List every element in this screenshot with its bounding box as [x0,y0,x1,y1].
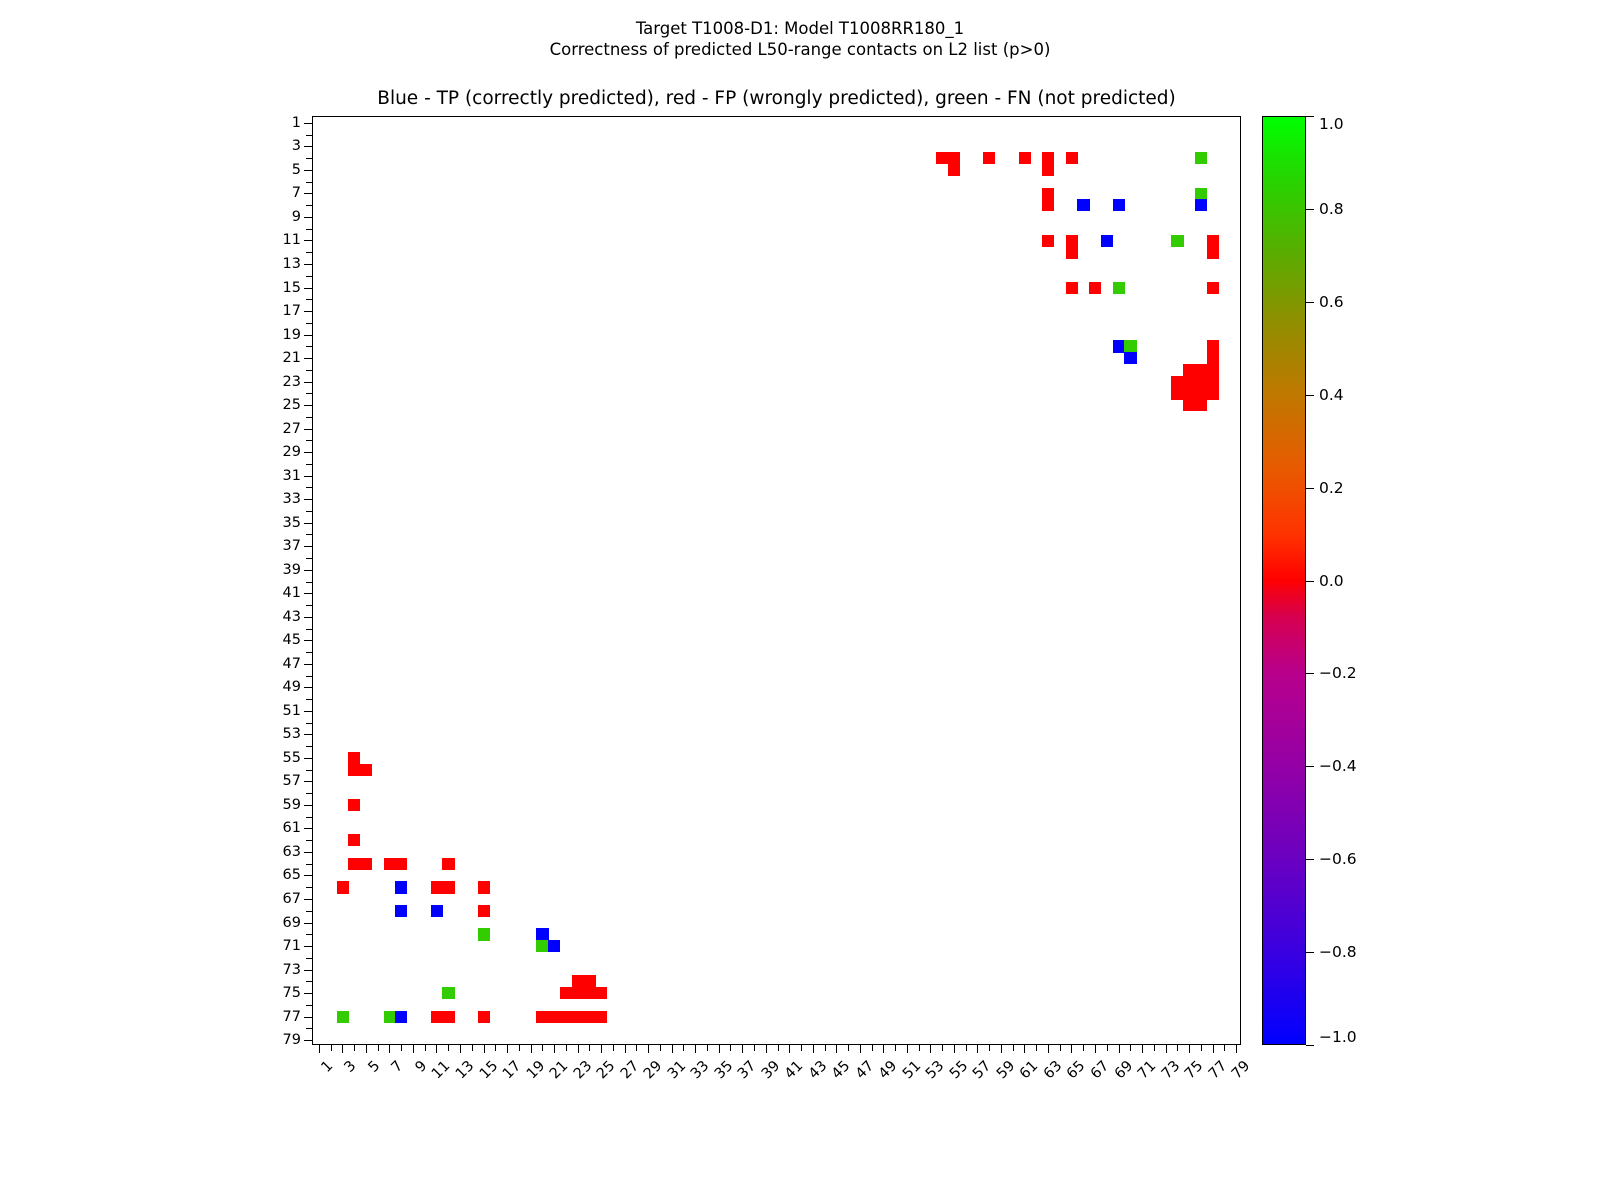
y-tick [306,699,313,700]
y-tick [304,240,313,241]
x-tick-label: 33 [688,1058,712,1082]
contact-cell-fp [936,152,948,164]
y-tick [304,970,313,971]
contact-cell-fn [1195,188,1207,200]
y-tick [306,864,313,865]
colorbar-tick [1306,302,1314,303]
y-tick-label: 57 [283,773,301,789]
x-tick [1236,1044,1237,1053]
x-tick [683,1044,684,1051]
contact-cell-fn [1171,235,1183,247]
x-tick [730,1044,731,1051]
x-tick [1107,1044,1108,1051]
colorbar-tick [1306,116,1314,117]
contact-cell-fp [348,752,360,764]
x-tick-label: 13 [453,1058,477,1082]
x-tick-label: 71 [1135,1058,1159,1082]
x-tick-label: 45 [829,1058,853,1082]
y-tick [306,276,313,277]
y-tick-label: 69 [283,915,301,931]
colorbar-tick [1306,581,1314,582]
y-tick-label: 59 [283,797,301,813]
x-tick [895,1044,896,1051]
y-tick-label: 21 [283,350,301,366]
y-tick [304,1017,313,1018]
x-tick [742,1044,743,1053]
y-tick [304,593,313,594]
y-tick [304,687,313,688]
y-tick-label: 49 [283,679,301,695]
contact-cell-fp [1195,376,1207,388]
x-tick [1142,1044,1143,1053]
y-tick [304,570,313,571]
y-tick-label: 37 [283,538,301,554]
y-tick [304,711,313,712]
y-tick [304,358,313,359]
y-tick [304,852,313,853]
x-tick [1036,1044,1037,1051]
y-tick-label: 45 [283,632,301,648]
y-tick [306,793,313,794]
x-tick [636,1044,637,1051]
contact-cell-fp [560,987,572,999]
figure-title-block: Target T1008-D1: Model T1008RR180_1 Corr… [0,18,1600,61]
x-tick [389,1044,390,1053]
x-tick-label: 49 [876,1058,900,1082]
y-tick [306,487,313,488]
y-tick [306,887,313,888]
colorbar-tick [1306,1045,1314,1046]
colorbar-tick [1306,766,1314,767]
contact-cell-fp [1171,387,1183,399]
x-tick [1001,1044,1002,1053]
colorbar-tick-label: 0.6 [1319,293,1344,311]
x-tick [319,1044,320,1053]
x-tick [331,1044,332,1051]
contact-cell-fn [1195,152,1207,164]
y-tick [304,193,313,194]
contact-cell-fp [948,152,960,164]
x-tick [860,1044,861,1053]
x-tick-label: 7 [389,1058,407,1076]
contact-cell-fp [1207,387,1219,399]
y-tick [306,652,313,653]
contact-cell-fp [1042,235,1054,247]
y-tick-label: 29 [283,444,301,460]
x-tick-label: 41 [782,1058,806,1082]
colorbar-tick-label: −1.0 [1319,1028,1357,1046]
y-tick [306,981,313,982]
colorbar-tick-label: 0.0 [1319,572,1344,590]
y-tick [306,1028,313,1029]
x-tick [825,1044,826,1051]
x-tick [848,1044,849,1051]
y-tick-label: 3 [292,138,301,154]
colorbar-tick-label: 0.4 [1319,386,1344,404]
contact-cell-tp [1113,340,1125,352]
colorbar-tick [1306,673,1314,674]
x-tick [1224,1044,1225,1051]
contact-cell-fp [478,881,490,893]
x-tick-label: 21 [547,1058,571,1082]
contact-cell-fp [1183,399,1195,411]
y-tick [304,429,313,430]
contact-cell-fn [337,1011,349,1023]
y-tick [306,582,313,583]
colorbar-tick-label: −0.8 [1319,943,1357,961]
y-tick-label: 23 [283,374,301,390]
contact-cell-fp [1066,235,1078,247]
contact-cell-fp [1183,387,1195,399]
contact-cell-fp [1089,282,1101,294]
y-tick [306,1005,313,1006]
x-tick-label: 47 [853,1058,877,1082]
x-tick [342,1044,343,1053]
x-tick-label: 57 [970,1058,994,1082]
y-tick-label: 51 [283,703,301,719]
contact-cell-fp [572,1011,584,1023]
contact-cell-fp [442,881,454,893]
contact-cell-fp [1207,364,1219,376]
y-tick [304,899,313,900]
contact-map-plot-area[interactable]: 1357911131517192123252729313335373941434… [312,116,1241,1045]
x-tick [1013,1044,1014,1051]
y-tick-label: 75 [283,985,301,1001]
colorbar-tick-label: 0.2 [1319,479,1344,497]
contact-cell-tp [395,881,407,893]
x-tick-label: 67 [1088,1058,1112,1082]
y-tick-label: 7 [292,185,301,201]
x-tick [1024,1044,1025,1053]
y-tick [304,805,313,806]
y-tick [304,617,313,618]
x-tick [1071,1044,1072,1053]
y-tick [306,770,313,771]
x-tick-label: 73 [1159,1058,1183,1082]
y-tick [306,511,313,512]
y-tick-label: 67 [283,891,301,907]
y-tick [306,182,313,183]
contact-cell-fp [595,1011,607,1023]
contact-cell-tp [1124,352,1136,364]
x-tick-label: 23 [571,1058,595,1082]
x-tick-label: 19 [523,1058,547,1082]
contact-cell-fp [1195,399,1207,411]
contact-cell-tp [1101,235,1113,247]
y-tick [306,605,313,606]
y-tick [304,405,313,406]
x-tick [778,1044,779,1051]
x-tick [1083,1044,1084,1051]
colorbar-tick-label: −0.6 [1319,850,1357,868]
contact-cell-fp [595,987,607,999]
x-tick [1048,1044,1049,1053]
y-tick [304,523,313,524]
contact-cell-fn [384,1011,396,1023]
y-tick-label: 31 [283,468,301,484]
x-tick [754,1044,755,1051]
y-tick-label: 33 [283,491,301,507]
x-tick-label: 15 [476,1058,500,1082]
contact-cell-fp [348,834,360,846]
contact-cell-fp [560,1011,572,1023]
x-tick [930,1044,931,1053]
contact-cell-fp [948,164,960,176]
x-tick-label: 69 [1111,1058,1135,1082]
y-tick [306,464,313,465]
y-tick-label: 11 [283,232,301,248]
y-tick [304,640,313,641]
y-tick-label: 65 [283,867,301,883]
contact-cell-fp [1207,235,1219,247]
x-tick [589,1044,590,1051]
y-tick [306,934,313,935]
x-tick [507,1044,508,1053]
y-tick [306,299,313,300]
contact-cell-fp [348,799,360,811]
x-tick [966,1044,967,1051]
y-tick [306,229,313,230]
x-tick-label: 17 [500,1058,524,1082]
contact-cell-fp [348,858,360,870]
x-tick [436,1044,437,1053]
x-tick [1166,1044,1167,1053]
y-tick-label: 17 [283,303,301,319]
y-tick-label: 61 [283,820,301,836]
contact-cell-fp [478,1011,490,1023]
x-tick [460,1044,461,1053]
x-tick [531,1044,532,1053]
colorbar-tick [1306,859,1314,860]
y-tick [306,393,313,394]
x-tick-label: 59 [994,1058,1018,1082]
y-tick [304,734,313,735]
x-tick [1130,1044,1131,1051]
x-tick-label: 9 [412,1058,430,1076]
x-tick-label: 31 [665,1058,689,1082]
x-tick [472,1044,473,1051]
y-tick-label: 35 [283,515,301,531]
x-tick [883,1044,884,1053]
contact-cell-fp [360,764,372,776]
y-tick [304,664,313,665]
x-tick [425,1044,426,1051]
x-tick [1213,1044,1214,1053]
contact-cell-fp [395,858,407,870]
y-tick [306,440,313,441]
y-tick [306,911,313,912]
x-tick [1095,1044,1096,1053]
y-tick [306,135,313,136]
figure-title-line-2: Correctness of predicted L50-range conta… [0,39,1600,60]
y-tick [304,875,313,876]
y-tick-label: 53 [283,726,301,742]
y-tick-label: 41 [283,585,301,601]
y-tick-label: 27 [283,421,301,437]
y-tick [304,1040,313,1041]
contact-cell-fp [1195,387,1207,399]
y-tick [304,288,313,289]
x-tick-label: 63 [1041,1058,1065,1082]
y-tick [306,346,313,347]
contact-cell-fp [1042,152,1054,164]
contact-cell-fp [1042,199,1054,211]
contact-cell-fp [337,881,349,893]
x-tick [366,1044,367,1053]
x-tick [378,1044,379,1051]
x-tick [672,1044,673,1053]
x-tick-label: 1 [318,1058,336,1076]
x-tick-label: 39 [759,1058,783,1082]
contact-cell-tp [1195,199,1207,211]
y-tick [306,323,313,324]
x-tick [707,1044,708,1051]
contact-cell-fp [1207,282,1219,294]
x-tick [495,1044,496,1051]
colorbar-tick [1306,488,1314,489]
contact-cell-tp [1077,199,1089,211]
x-tick [977,1044,978,1053]
y-tick [306,252,313,253]
y-tick [306,205,313,206]
contact-cell-fp [431,881,443,893]
x-tick [1119,1044,1120,1053]
y-tick [304,993,313,994]
x-tick [613,1044,614,1051]
colorbar-tick-label: 0.8 [1319,200,1344,218]
colorbar-gradient [1262,116,1306,1045]
y-tick [304,217,313,218]
x-tick-label: 35 [712,1058,736,1082]
x-tick-label: 65 [1064,1058,1088,1082]
x-tick [719,1044,720,1053]
y-tick [304,452,313,453]
x-tick [660,1044,661,1051]
x-tick-label: 29 [641,1058,665,1082]
y-tick [304,476,313,477]
x-tick [1201,1044,1202,1051]
y-tick [304,923,313,924]
contact-cell-fp [1183,364,1195,376]
colorbar: 1.00.80.60.40.20.0−0.2−0.4−0.6−0.8−1.0 [1262,116,1306,1045]
y-tick-label: 9 [292,209,301,225]
y-tick-label: 79 [283,1032,301,1048]
contact-cell-tp [1113,199,1125,211]
y-tick-label: 63 [283,844,301,860]
x-tick [1060,1044,1061,1051]
x-tick-label: 37 [735,1058,759,1082]
x-tick [484,1044,485,1053]
colorbar-tick [1306,952,1314,953]
contact-cell-fn [536,940,548,952]
x-tick [907,1044,908,1053]
y-tick [304,311,313,312]
y-tick [306,723,313,724]
contact-cell-fp [536,1011,548,1023]
y-tick [306,158,313,159]
y-tick [304,123,313,124]
contact-cell-fp [572,975,584,987]
y-tick [306,370,313,371]
x-tick [766,1044,767,1053]
y-tick [304,546,313,547]
colorbar-tick-label: 1.0 [1319,115,1344,133]
y-tick-label: 15 [283,280,301,296]
y-tick-label: 25 [283,397,301,413]
y-tick-label: 55 [283,750,301,766]
y-tick [306,534,313,535]
contact-cell-fp [348,764,360,776]
axes-legend-title: Blue - TP (correctly predicted), red - F… [312,88,1241,109]
x-tick [836,1044,837,1053]
contact-cell-fp [1066,246,1078,258]
y-tick [304,170,313,171]
x-tick [519,1044,520,1051]
x-tick [942,1044,943,1051]
contact-cell-fp [1207,376,1219,388]
x-tick [648,1044,649,1053]
contact-cell-fp [1019,152,1031,164]
x-tick [554,1044,555,1053]
x-tick-label: 51 [900,1058,924,1082]
y-tick [304,499,313,500]
contact-cell-fp [572,987,584,999]
figure-title-line-1: Target T1008-D1: Model T1008RR180_1 [0,18,1600,39]
x-tick-label: 3 [342,1058,360,1076]
x-tick [625,1044,626,1053]
colorbar-tick-label: −0.2 [1319,664,1357,682]
x-tick [872,1044,873,1051]
y-tick [306,840,313,841]
y-tick [306,558,313,559]
contact-cell-fp [548,1011,560,1023]
x-tick [413,1044,414,1053]
colorbar-tick [1306,209,1314,210]
x-tick-label: 11 [429,1058,453,1082]
y-tick-label: 1 [292,115,301,131]
contact-cell-fp [1195,364,1207,376]
x-tick [578,1044,579,1053]
x-tick [601,1044,602,1053]
y-tick [304,781,313,782]
y-tick [306,958,313,959]
y-tick-label: 5 [292,162,301,178]
y-tick-label: 47 [283,656,301,672]
contact-cell-fp [431,1011,443,1023]
x-tick [1177,1044,1178,1051]
x-tick [1154,1044,1155,1051]
x-tick-label: 55 [947,1058,971,1082]
y-tick-label: 39 [283,562,301,578]
x-tick-label: 43 [806,1058,830,1082]
contact-cell-fp [1183,376,1195,388]
y-tick [304,758,313,759]
contact-cell-fp [384,858,396,870]
contact-cell-fp [360,858,372,870]
colorbar-tick [1306,395,1314,396]
y-tick [306,417,313,418]
x-tick [919,1044,920,1051]
contact-cell-tp [548,940,560,952]
contact-cell-fp [1207,340,1219,352]
x-tick-label: 79 [1229,1058,1253,1082]
contact-cell-fp [1171,376,1183,388]
x-tick-label: 75 [1182,1058,1206,1082]
y-tick [306,676,313,677]
y-tick [304,146,313,147]
contact-cell-fn [1113,282,1125,294]
contact-cell-fp [1066,152,1078,164]
